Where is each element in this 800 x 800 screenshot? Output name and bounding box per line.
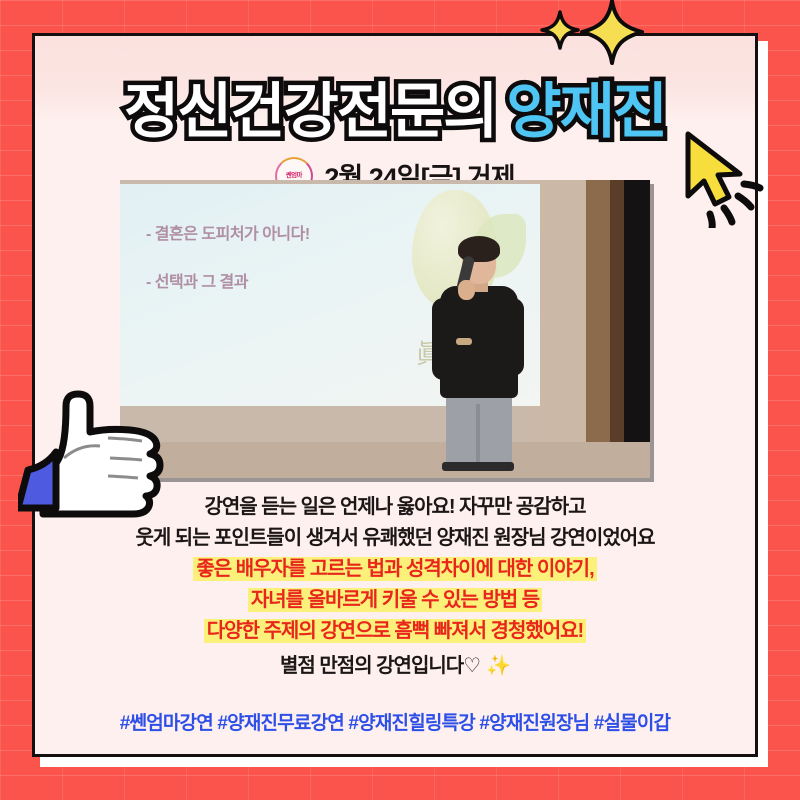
hashtag-list[interactable]: #쎈엄마강연 #양재진무료강연 #양재진힐링특강 #양재진원장님 #실물이갑 [35,708,755,735]
speaker-shoes [442,462,514,471]
highlight-mark: 좋은 배우자를 고르는 법과 성격차이에 대한 이야기, [193,557,596,581]
sparkle-star-large-icon [576,0,648,68]
poster-canvas: 정신건강전문의양재진 쎈엄마 2월 24일[금] 거제 眞 - 결혼은 도피처가… [0,0,800,800]
highlight-mark: 다양한 주제의 강연으로 흠뻑 빠져서 경청했어요! [204,619,586,643]
highlight-mark: 자녀를 올바르게 키울 수 있는 방법 등 [248,588,542,612]
title-primary: 정신건강전문의 [124,82,496,142]
review-closing-line: 별점 만점의 강연입니다♡ ✨ [35,650,755,682]
photo-curtain-dark [610,180,624,442]
review-line: 웃게 되는 포인트들이 생겨서 유쾌했던 양재진 원장님 강연이었어요 [35,523,755,554]
review-line-highlighted: 좋은 배우자를 고르는 법과 성격차이에 대한 이야기, [35,554,755,585]
photo-floor [120,442,650,478]
photo-curtain [586,180,612,442]
page-title: 정신건강전문의양재진 [35,82,755,142]
speaker-watch [456,338,472,345]
photo-edge-shadow [624,180,650,442]
closing-text: 별점 만점의 강연입니다 [280,655,463,677]
slide-line-1: - 결혼은 도피처가 아니다! [146,220,310,244]
review-line-highlighted: 자녀를 올바르게 키울 수 있는 방법 등 [35,585,755,616]
slide-line-2: - 선택과 그 결과 [146,268,248,292]
lecture-photo: 眞 - 결혼은 도피처가 아니다! - 선택과 그 결과 [120,180,650,478]
thumbs-up-hand-icon [18,388,170,523]
heart-sparkle-icon: ♡ ✨ [463,653,510,677]
title-accent: 양재진 [506,82,666,142]
cursor-arrow-icon [672,124,776,233]
brand-logo-label: 쎈엄마 [286,172,302,178]
speaker-leg-split [476,404,480,466]
speaker-hand [458,280,475,300]
review-line-highlighted: 다양한 주제의 강연으로 흠뻑 빠져서 경청했어요! [35,616,755,647]
